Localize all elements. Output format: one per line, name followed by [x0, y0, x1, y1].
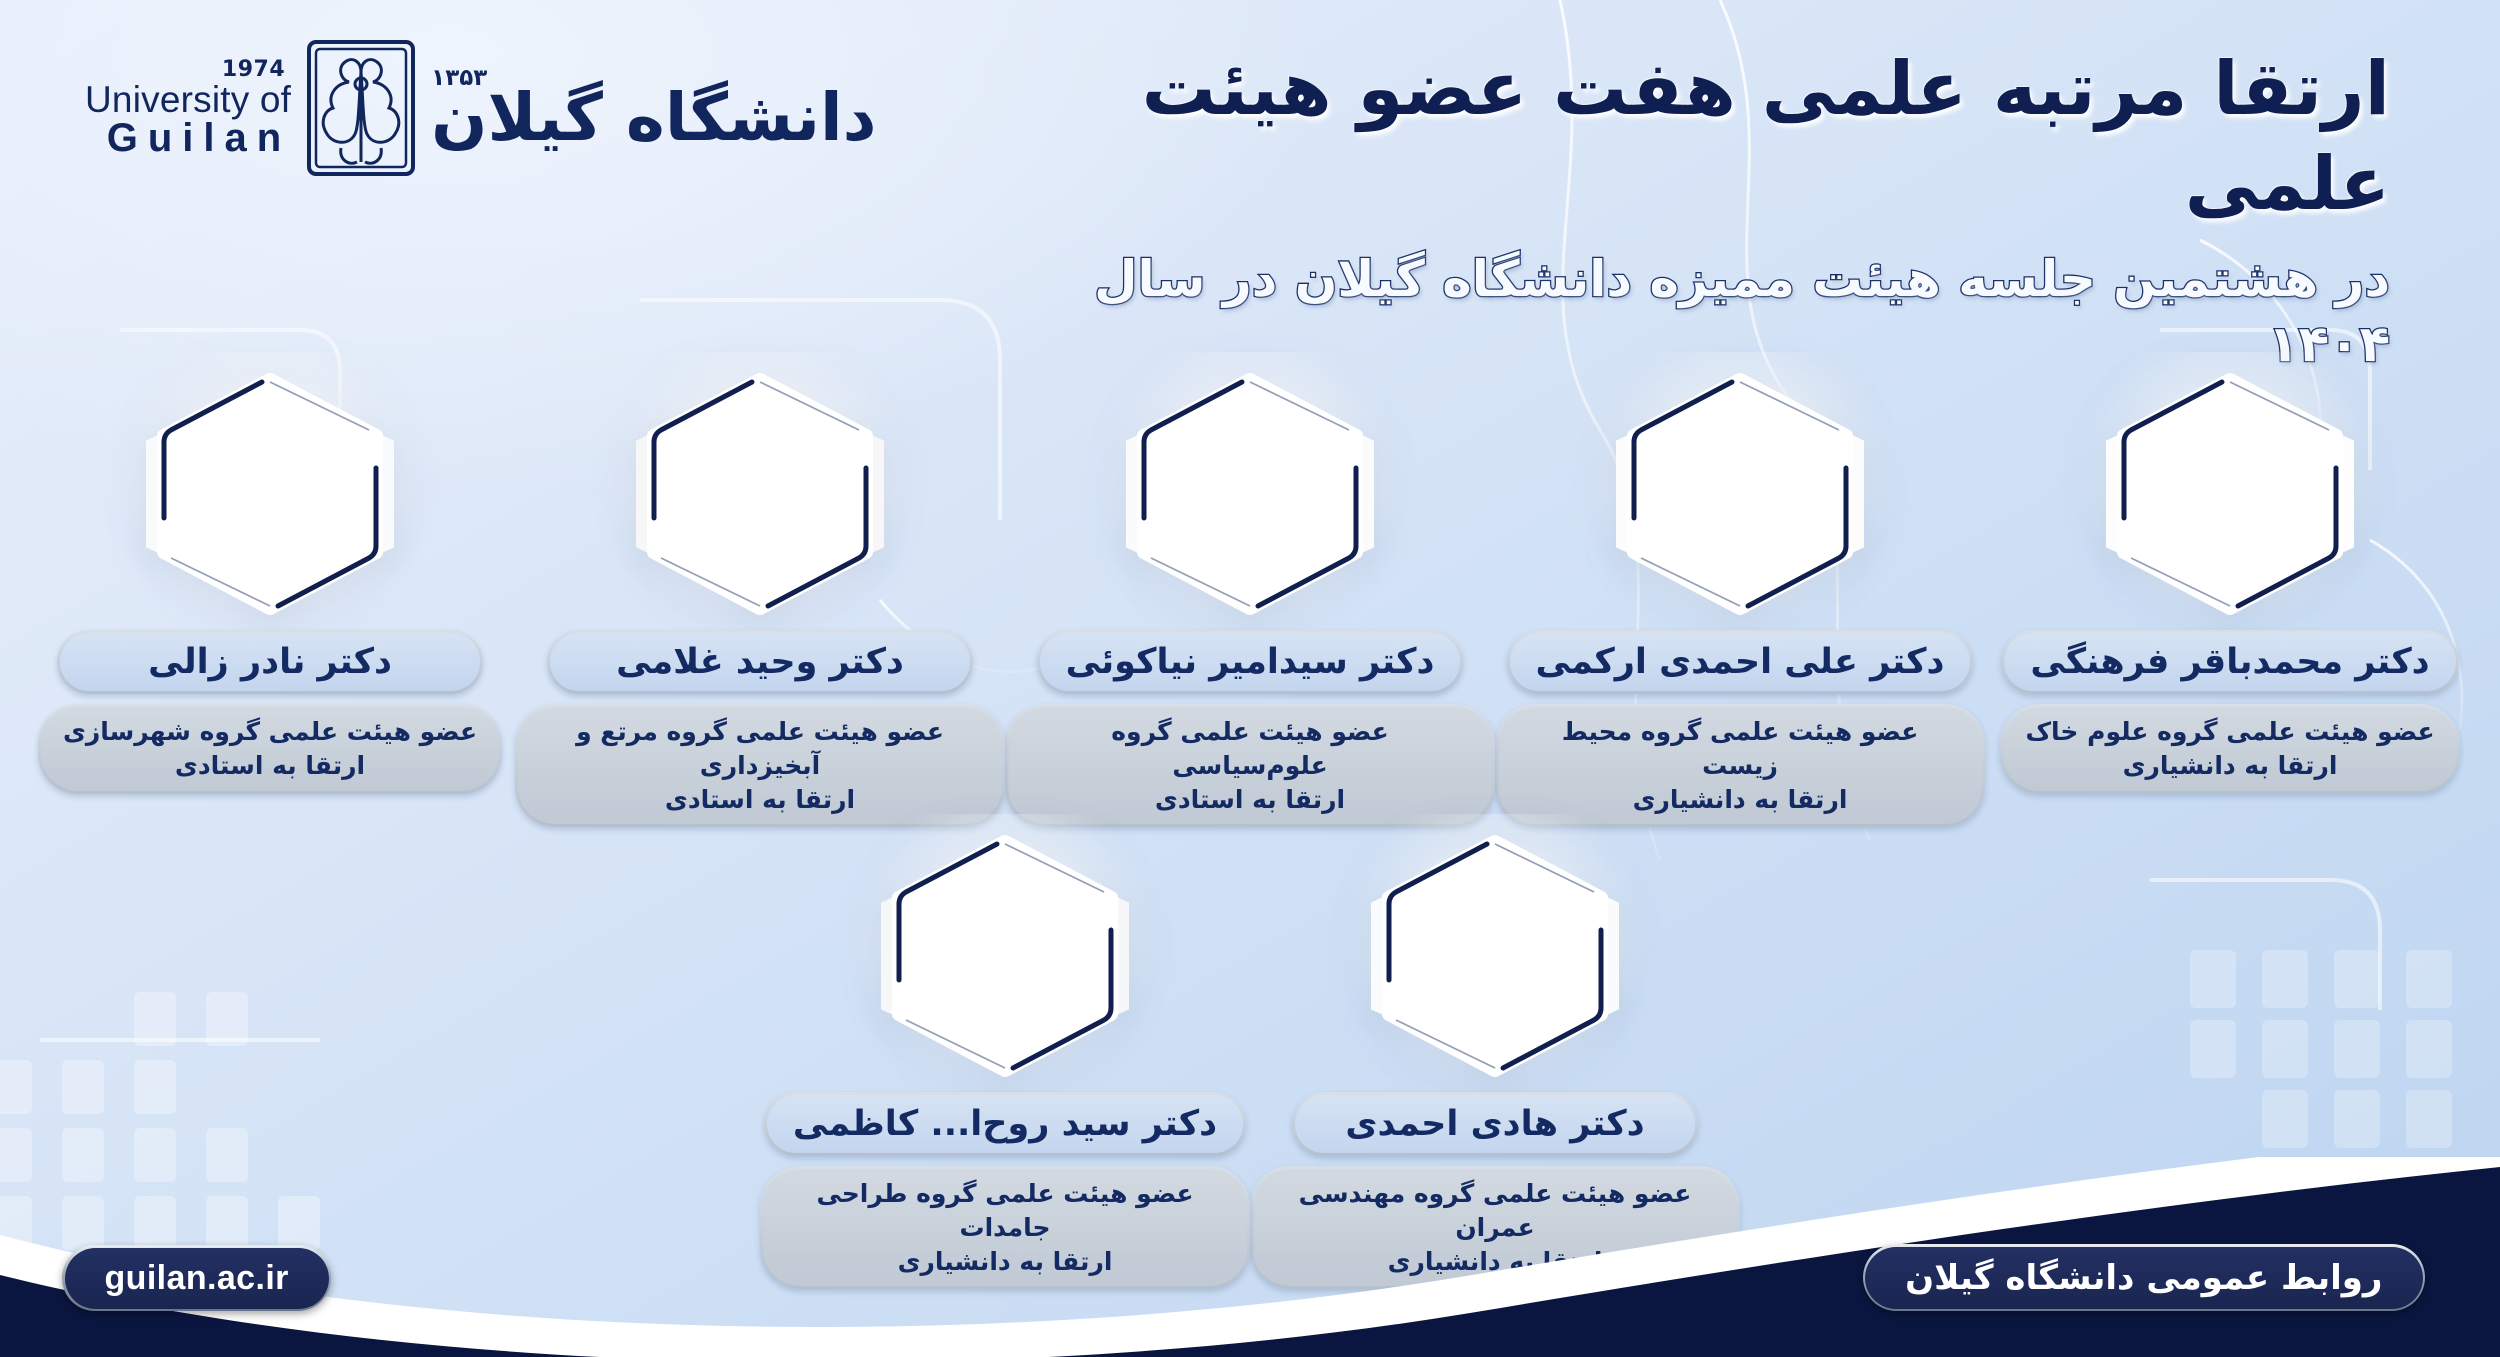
person-card[interactable]: دکتر سید روح‌ا... کاظمی عضو هیئت علمی گر…: [760, 830, 1250, 1289]
person-role-pill[interactable]: عضو هیئت علمی گروه علوم‌سیاسی ارتقا به ا…: [1005, 704, 1495, 827]
photo-frame: [2090, 368, 2370, 620]
person-name: دکتر علی احمدی ارکمی: [1510, 633, 1971, 691]
person-card[interactable]: دکتر سیدامیر نیاکوئی عضو هیئت علمی گروه …: [1005, 368, 1495, 827]
logo-university-word: University of: [85, 81, 291, 118]
person-promotion: ارتقا به دانشیاری: [1520, 783, 1960, 817]
person-department: عضو هیئت علمی گروه محیط زیست: [1562, 717, 1919, 780]
person-department: عضو هیئت علمی گروه مهندسی عمران: [1299, 1179, 1692, 1242]
person-role-pill[interactable]: عضو هیئت علمی گروه علوم خاک ارتقا به دان…: [2000, 704, 2459, 794]
people-row-top: دکتر محمدباقر فرهنگی عضو هیئت علمی گروه …: [0, 368, 2500, 827]
person-card[interactable]: دکتر علی احمدی ارکمی عضو هیئت علمی گروه …: [1495, 368, 1985, 827]
person-role: عضو هیئت علمی گروه مهندسی عمران ارتقا به…: [1253, 1169, 1737, 1286]
person-card[interactable]: دکتر هادی احمدی عضو هیئت علمی گروه مهندس…: [1250, 830, 1740, 1289]
person-name: دکتر سیدامیر نیاکوئی: [1040, 633, 1461, 691]
person-card[interactable]: دکتر نادر زالی عضو هیئت علمی گروه شهرساز…: [25, 368, 515, 827]
university-logo: 1974 University of Guilan: [85, 38, 876, 178]
credit-pill[interactable]: روابط عمومی دانشگاه گیلان: [1863, 1244, 2425, 1311]
person-department: عضو هیئت علمی گروه علوم‌سیاسی: [1111, 717, 1388, 780]
logo-name-persian: دانشگاه گیلان: [431, 85, 876, 151]
person-name: دکتر هادی احمدی: [1295, 1095, 1695, 1153]
person-department: عضو هیئت علمی گروه مرتع و آبخیزداری: [576, 717, 944, 780]
logo-persian-text: ۱۳۵۳ دانشگاه گیلان: [431, 65, 876, 151]
photo-frame: [1355, 830, 1635, 1082]
person-name-pill[interactable]: دکتر محمدباقر فرهنگی: [2001, 630, 2458, 694]
person-role: عضو هیئت علمی گروه علوم خاک ارتقا به دان…: [2003, 707, 2456, 791]
poster-header: 1974 University of Guilan: [0, 0, 2500, 300]
photo-frame: [1110, 368, 1390, 620]
person-name: دکتر سید روح‌ا... کاظمی: [767, 1095, 1243, 1153]
person-name: دکتر محمدباقر فرهنگی: [2004, 633, 2455, 691]
person-name-pill[interactable]: دکتر سیدامیر نیاکوئی: [1037, 630, 1464, 694]
logo-name-english: Guilan: [85, 118, 291, 158]
credit-text: روابط عمومی دانشگاه گیلان: [1865, 1247, 2422, 1309]
logo-founding-year-en: 1974: [85, 59, 291, 81]
person-role: عضو هیئت علمی گروه طراحی جامدات ارتقا به…: [763, 1169, 1247, 1286]
person-promotion: ارتقا به دانشیاری: [2025, 749, 2434, 783]
person-promotion: ارتقا به دانشیاری: [785, 1245, 1225, 1279]
person-role-pill[interactable]: عضو هیئت علمی گروه مرتع و آبخیزداری ارتق…: [515, 704, 1005, 827]
poster-subtitle: در هشتمین جلسه هیئت ممیزه دانشگاه گیلان …: [1040, 247, 2390, 377]
person-role-pill[interactable]: عضو هیئت علمی گروه مهندسی عمران ارتقا به…: [1250, 1166, 1740, 1289]
logo-english-text: 1974 University of Guilan: [85, 59, 291, 158]
photo-frame: [620, 368, 900, 620]
person-role: عضو هیئت علمی گروه محیط زیست ارتقا به دا…: [1498, 707, 1982, 824]
people-row-bottom: دکتر هادی احمدی عضو هیئت علمی گروه مهندس…: [0, 830, 2500, 1289]
person-role-pill[interactable]: عضو هیئت علمی گروه محیط زیست ارتقا به دا…: [1495, 704, 1985, 827]
poster-canvas: 1974 University of Guilan: [0, 0, 2500, 1357]
person-promotion: ارتقا به دانشیاری: [1275, 1245, 1715, 1279]
website-pill[interactable]: guilan.ac.ir: [62, 1245, 331, 1311]
person-promotion: ارتقا به استادی: [63, 749, 477, 783]
person-role-pill[interactable]: عضو هیئت علمی گروه شهرسازی ارتقا به استا…: [38, 704, 502, 794]
person-role: عضو هیئت علمی گروه علوم‌سیاسی ارتقا به ا…: [1008, 707, 1492, 824]
person-name: دکتر نادر زالی: [60, 633, 480, 691]
person-promotion: ارتقا به استادی: [1030, 783, 1470, 817]
title-block: ارتقا مرتبه علمی هفت عضو هیئت علمی در هش…: [1040, 42, 2390, 377]
photo-frame: [1600, 368, 1880, 620]
person-name-pill[interactable]: دکتر وحید غلامی: [547, 630, 973, 694]
person-role-pill[interactable]: عضو هیئت علمی گروه طراحی جامدات ارتقا به…: [760, 1166, 1250, 1289]
person-role: عضو هیئت علمی گروه شهرسازی ارتقا به استا…: [41, 707, 499, 791]
person-department: عضو هیئت علمی گروه علوم خاک: [2025, 717, 2434, 746]
person-role: عضو هیئت علمی گروه مرتع و آبخیزداری ارتق…: [518, 707, 1002, 824]
person-card[interactable]: دکتر محمدباقر فرهنگی عضو هیئت علمی گروه …: [1985, 368, 2475, 827]
person-card[interactable]: دکتر وحید غلامی عضو هیئت علمی گروه مرتع …: [515, 368, 1005, 827]
person-name-pill[interactable]: دکتر هادی احمدی: [1292, 1092, 1698, 1156]
person-department: عضو هیئت علمی گروه شهرسازی: [63, 717, 477, 746]
person-name-pill[interactable]: دکتر نادر زالی: [57, 630, 483, 694]
person-name-pill[interactable]: دکتر سید روح‌ا... کاظمی: [764, 1092, 1246, 1156]
person-promotion: ارتقا به استادی: [540, 783, 980, 817]
person-name-pill[interactable]: دکتر علی احمدی ارکمی: [1507, 630, 1974, 694]
photo-frame: [130, 368, 410, 620]
person-department: عضو هیئت علمی گروه طراحی جامدات: [816, 1179, 1193, 1242]
photo-frame: [865, 830, 1145, 1082]
guilan-emblem-icon: [305, 38, 417, 178]
poster-title: ارتقا مرتبه علمی هفت عضو هیئت علمی: [1040, 42, 2390, 231]
person-name: دکتر وحید غلامی: [550, 633, 970, 691]
website-url: guilan.ac.ir: [65, 1248, 329, 1309]
